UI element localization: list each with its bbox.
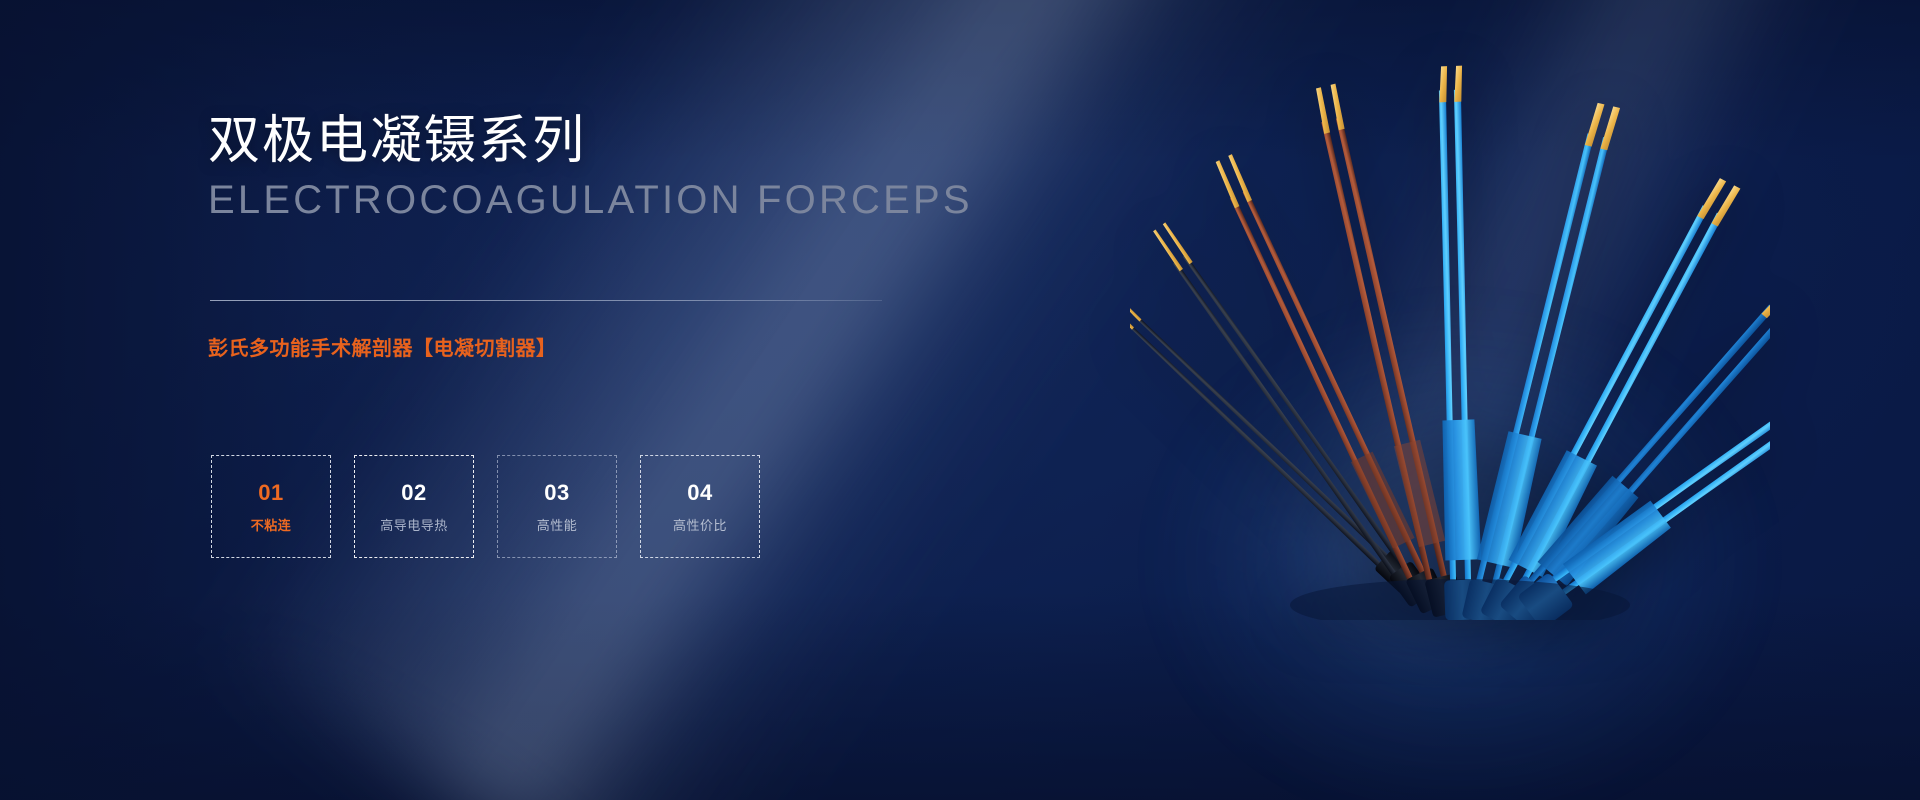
- feature-card-01[interactable]: 01 不粘连: [211, 455, 331, 558]
- feature-number: 03: [544, 482, 569, 504]
- feature-label: 高性能: [537, 519, 578, 532]
- feature-list: 01 不粘连 02 高导电导热 03 高性能 04 高性价比: [208, 455, 888, 580]
- product-hero-banner: 双极电凝镊系列 ELECTROCOAGULATION FORCEPS 彭氏多功能…: [0, 0, 1920, 800]
- page-subtitle: 彭氏多功能手术解剖器【电凝切割器】: [208, 332, 557, 361]
- feature-number: 01: [258, 482, 283, 504]
- feature-number: 04: [687, 482, 712, 504]
- feature-label: 高导电导热: [380, 519, 448, 532]
- page-title-english: ELECTROCOAGULATION FORCEPS: [208, 176, 973, 224]
- title-divider: [210, 300, 882, 301]
- feature-card-04[interactable]: 04 高性价比: [640, 455, 760, 558]
- feature-number: 02: [401, 482, 426, 504]
- feature-label: 高性价比: [673, 519, 727, 532]
- feature-label: 不粘连: [251, 519, 292, 532]
- forceps-brown-1: [1204, 154, 1450, 614]
- electrocoagulation-forceps-illustration: [1130, 60, 1770, 620]
- feature-card-02[interactable]: 02 高导电导热: [354, 455, 474, 558]
- hero-copy-block: 双极电凝镊系列 ELECTROCOAGULATION FORCEPS 彭氏多功能…: [208, 0, 928, 800]
- page-title: 双极电凝镊系列: [208, 112, 586, 172]
- feature-card-03[interactable]: 03 高性能: [497, 455, 617, 558]
- product-image: [1130, 60, 1770, 620]
